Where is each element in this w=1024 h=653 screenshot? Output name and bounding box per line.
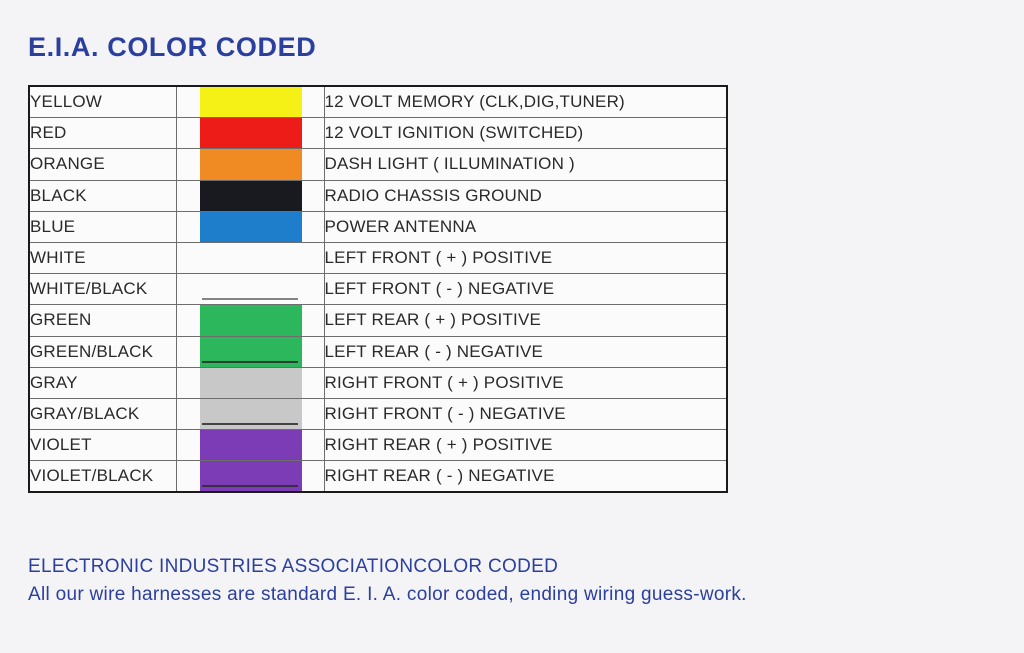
wire-color-name-cell: GREEN (29, 305, 176, 336)
color-swatch (200, 368, 302, 398)
wire-color-swatch-cell (176, 211, 324, 242)
wire-color-name-cell: VIOLET (29, 430, 176, 461)
wire-color-name-cell: ORANGE (29, 149, 176, 180)
color-swatch (200, 274, 302, 304)
table-row: BLUEPOWER ANTENNA (29, 211, 727, 242)
color-swatch (200, 399, 302, 429)
wire-function-cell: RIGHT FRONT ( + ) POSITIVE (324, 367, 727, 398)
color-swatch (200, 212, 302, 242)
wire-color-name-cell: WHITE (29, 242, 176, 273)
table-row: RED12 VOLT IGNITION (SWITCHED) (29, 118, 727, 149)
wire-function-cell: POWER ANTENNA (324, 211, 727, 242)
wire-color-name-cell: YELLOW (29, 86, 176, 118)
footer-line-1: ELECTRONIC INDUSTRIES ASSOCIATIONCOLOR C… (28, 553, 747, 581)
wire-color-swatch-cell (176, 149, 324, 180)
wire-color-swatch-cell (176, 305, 324, 336)
wire-function-cell: 12 VOLT MEMORY (CLK,DIG,TUNER) (324, 86, 727, 118)
table-row: GREENLEFT REAR ( + ) POSITIVE (29, 305, 727, 336)
wire-color-swatch-cell (176, 430, 324, 461)
wire-color-name-cell: GREEN/BLACK (29, 336, 176, 367)
wire-color-swatch-cell (176, 367, 324, 398)
table-row: GRAY/BLACKRIGHT FRONT ( - ) NEGATIVE (29, 398, 727, 429)
wire-function-cell: 12 VOLT IGNITION (SWITCHED) (324, 118, 727, 149)
color-swatch (200, 305, 302, 335)
wire-color-name-cell: GRAY (29, 367, 176, 398)
table-row: WHITE/BLACKLEFT FRONT ( - ) NEGATIVE (29, 274, 727, 305)
wire-color-swatch-cell (176, 398, 324, 429)
wire-color-swatch-cell (176, 180, 324, 211)
footer: ELECTRONIC INDUSTRIES ASSOCIATIONCOLOR C… (28, 553, 747, 609)
color-swatch (200, 461, 302, 491)
wire-color-swatch-cell (176, 86, 324, 118)
wire-color-swatch-cell (176, 118, 324, 149)
wire-color-swatch-cell (176, 336, 324, 367)
wire-color-name-cell: RED (29, 118, 176, 149)
color-swatch (200, 149, 302, 179)
color-swatch (200, 243, 302, 273)
wire-function-cell: RIGHT FRONT ( - ) NEGATIVE (324, 398, 727, 429)
wire-function-cell: LEFT REAR ( - ) NEGATIVE (324, 336, 727, 367)
wire-color-name-cell: BLACK (29, 180, 176, 211)
wire-function-cell: RIGHT REAR ( - ) NEGATIVE (324, 461, 727, 493)
wire-color-name-cell: BLUE (29, 211, 176, 242)
wire-function-cell: LEFT FRONT ( - ) NEGATIVE (324, 274, 727, 305)
color-swatch (200, 430, 302, 460)
table-row: GREEN/BLACKLEFT REAR ( - ) NEGATIVE (29, 336, 727, 367)
table-row: VIOLET/BLACKRIGHT REAR ( - ) NEGATIVE (29, 461, 727, 493)
wire-color-name-cell: GRAY/BLACK (29, 398, 176, 429)
wire-function-cell: DASH LIGHT ( ILLUMINATION ) (324, 149, 727, 180)
wire-function-cell: RADIO CHASSIS GROUND (324, 180, 727, 211)
eia-wire-color-table: YELLOW12 VOLT MEMORY (CLK,DIG,TUNER)RED1… (28, 85, 728, 493)
color-swatch (200, 337, 302, 367)
wire-color-swatch-cell (176, 274, 324, 305)
wire-function-cell: RIGHT REAR ( + ) POSITIVE (324, 430, 727, 461)
table-row: GRAYRIGHT FRONT ( + ) POSITIVE (29, 367, 727, 398)
color-swatch (200, 181, 302, 211)
footer-line-2: All our wire harnesses are standard E. I… (28, 581, 747, 609)
wire-function-cell: LEFT REAR ( + ) POSITIVE (324, 305, 727, 336)
color-swatch (200, 118, 302, 148)
table-row: VIOLETRIGHT REAR ( + ) POSITIVE (29, 430, 727, 461)
wire-color-swatch-cell (176, 242, 324, 273)
table-row: ORANGEDASH LIGHT ( ILLUMINATION ) (29, 149, 727, 180)
wire-color-swatch-cell (176, 461, 324, 493)
table-row: BLACKRADIO CHASSIS GROUND (29, 180, 727, 211)
wire-table-body: YELLOW12 VOLT MEMORY (CLK,DIG,TUNER)RED1… (29, 86, 727, 492)
wire-color-name-cell: VIOLET/BLACK (29, 461, 176, 493)
page-title: E.I.A. COLOR CODED (28, 32, 316, 63)
wire-function-cell: LEFT FRONT ( + ) POSITIVE (324, 242, 727, 273)
wire-color-name-cell: WHITE/BLACK (29, 274, 176, 305)
color-swatch (200, 87, 302, 117)
table-row: YELLOW12 VOLT MEMORY (CLK,DIG,TUNER) (29, 86, 727, 118)
table-row: WHITELEFT FRONT ( + ) POSITIVE (29, 242, 727, 273)
